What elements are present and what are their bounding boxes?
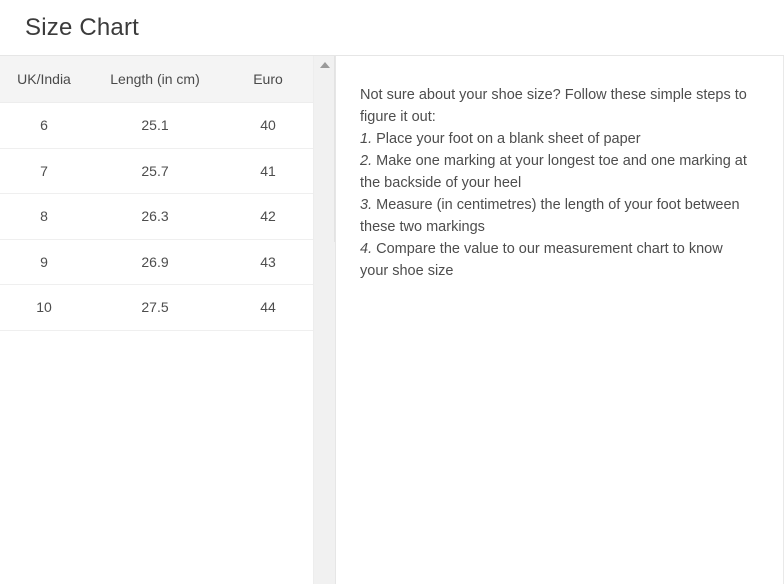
modal-header: Size Chart <box>0 0 784 56</box>
cell-uk-india: 9 <box>0 239 88 285</box>
step-text-2: Make one marking at your longest toe and… <box>360 153 747 191</box>
cell-euro: 44 <box>222 285 313 331</box>
instruction-step-2: 2. Make one marking at your longest toe … <box>360 150 753 194</box>
column-header-euro: Euro <box>222 56 313 103</box>
table-row: 8 26.3 42 <box>0 194 313 240</box>
step-number-4: 4. <box>360 241 372 257</box>
table-row: 10 27.5 44 <box>0 285 313 331</box>
cell-uk-india: 6 <box>0 103 88 149</box>
instructions-intro: Not sure about your shoe size? Follow th… <box>360 84 753 128</box>
step-number-2: 2. <box>360 153 372 169</box>
table-row: 6 25.1 40 <box>0 103 313 149</box>
cell-length-cm: 27.5 <box>88 285 222 331</box>
instructions-pane: Not sure about your shoe size? Follow th… <box>336 56 784 584</box>
column-header-length-cm: Length (in cm) <box>88 56 222 103</box>
cell-length-cm: 26.3 <box>88 194 222 240</box>
instruction-step-3: 3. Measure (in centimetres) the length o… <box>360 194 753 238</box>
scroll-up-arrow-icon[interactable] <box>320 62 330 68</box>
step-text-1: Place your foot on a blank sheet of pape… <box>376 131 640 147</box>
step-number-3: 3. <box>360 197 372 213</box>
size-chart-modal: Size Chart UK/India Length (in cm) Euro <box>0 0 784 584</box>
cell-uk-india: 8 <box>0 194 88 240</box>
cell-length-cm: 25.7 <box>88 148 222 194</box>
table-row: 7 25.7 41 <box>0 148 313 194</box>
table-header-row: UK/India Length (in cm) Euro <box>0 56 313 103</box>
step-number-1: 1. <box>360 131 372 147</box>
cell-uk-india: 7 <box>0 148 88 194</box>
cell-length-cm: 26.9 <box>88 239 222 285</box>
modal-body: UK/India Length (in cm) Euro 6 25.1 40 7 <box>0 56 784 584</box>
size-table-scroll-area: UK/India Length (in cm) Euro 6 25.1 40 7 <box>0 56 313 584</box>
column-header-uk-india: UK/India <box>0 56 88 103</box>
foot-measurement-illustration: LENGTH <box>360 271 783 584</box>
table-row: 9 26.9 43 <box>0 239 313 285</box>
cell-euro: 43 <box>222 239 313 285</box>
cell-length-cm: 25.1 <box>88 103 222 149</box>
step-text-3: Measure (in centimetres) the length of y… <box>360 197 740 235</box>
size-table-pane: UK/India Length (in cm) Euro 6 25.1 40 7 <box>0 56 336 584</box>
page-title: Size Chart <box>25 16 139 40</box>
scrollbar-thumb[interactable] <box>315 56 335 242</box>
cell-euro: 40 <box>222 103 313 149</box>
cell-uk-india: 10 <box>0 285 88 331</box>
instruction-step-1: 1. Place your foot on a blank sheet of p… <box>360 128 753 150</box>
cell-euro: 42 <box>222 194 313 240</box>
size-chart-table: UK/India Length (in cm) Euro 6 25.1 40 7 <box>0 56 313 331</box>
instructions-text: Not sure about your shoe size? Follow th… <box>360 84 753 282</box>
table-scrollbar[interactable] <box>313 56 335 584</box>
cell-euro: 41 <box>222 148 313 194</box>
